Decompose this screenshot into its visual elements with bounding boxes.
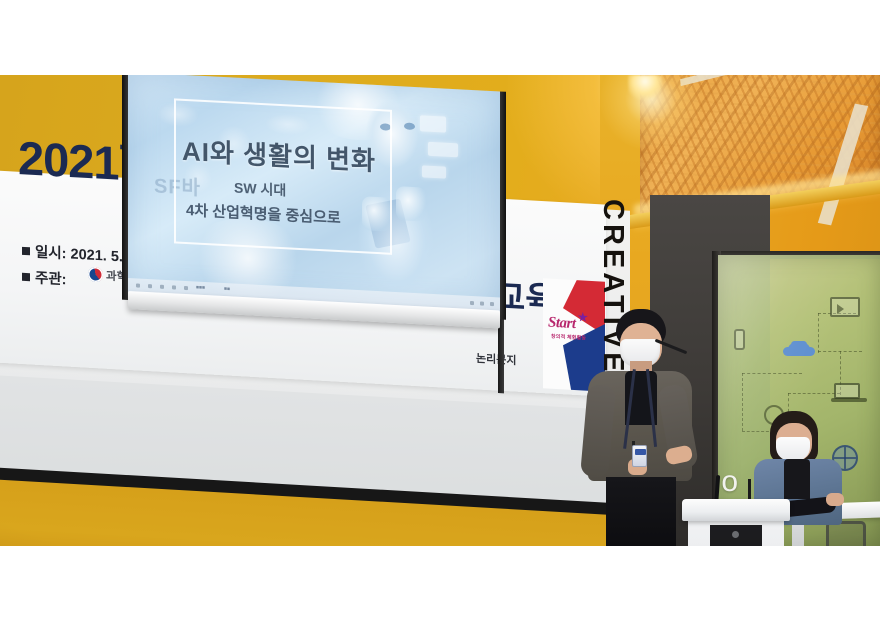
face-mask-icon <box>776 437 810 461</box>
presenter-trousers <box>606 477 676 546</box>
ceiling-beam <box>680 75 830 86</box>
banner-line-host: 주관: <box>22 266 67 289</box>
attendee-shirt <box>784 459 810 499</box>
lectern-top-surface <box>682 499 790 521</box>
projected-presentation-slide: SF바 AI와 생활의 변화 SW 시대 4차 산업혁명을 중심으로 ■■■ ■… <box>128 75 500 313</box>
white-lectern <box>682 499 790 546</box>
start-logo-tagline: 창의적 체험활동 <box>551 333 586 342</box>
screen-right-edge <box>499 91 506 319</box>
slide-subtitle-line-1: SW 시대 <box>234 178 286 201</box>
projection-screen: SF바 AI와 생활의 변화 SW 시대 4차 산업혁명을 중심으로 ■■■ ■… <box>128 75 500 399</box>
bullet-square-icon <box>22 247 30 255</box>
lanyard-id-badge <box>632 445 647 467</box>
lectern-knob <box>732 531 739 538</box>
glass-overlay-text: Io <box>718 465 739 499</box>
robot-eye <box>404 122 415 130</box>
attendee-hand <box>826 493 844 506</box>
banner-host-text: 주관: <box>35 270 67 288</box>
start-logo-word: Start <box>548 315 576 334</box>
bullet-square-icon <box>22 273 30 281</box>
ui-chip <box>422 165 446 178</box>
photograph-frame: Io 2021학 일시: 2021. 5. 4 주관: 과학기술정 교육 논리문… <box>0 0 880 636</box>
photo-scene: Io 2021학 일시: 2021. 5. 4 주관: 과학기술정 교육 논리문… <box>0 75 880 546</box>
ui-chip <box>420 115 446 132</box>
spot-light-icon <box>628 75 662 101</box>
korean-government-taegeuk-logo <box>88 267 103 283</box>
ui-chip <box>428 142 458 158</box>
robot-hand <box>396 186 426 222</box>
